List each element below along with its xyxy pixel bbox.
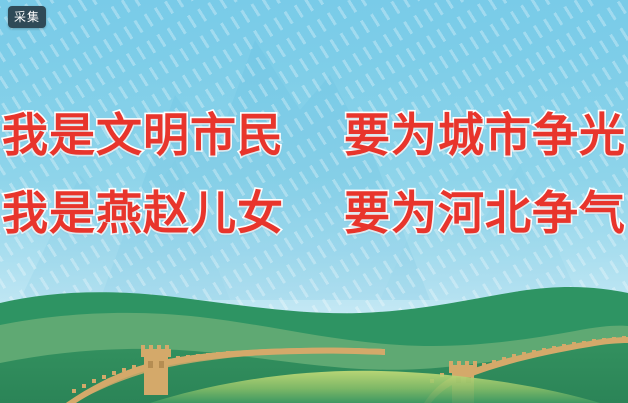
slogan-line-2: 我是燕赵儿女 要为河北争气 bbox=[0, 174, 628, 252]
slogan-line-2-left: 我是燕赵儿女 bbox=[2, 174, 284, 252]
capture-button[interactable]: 采集 bbox=[8, 6, 46, 28]
poster-image: 我是文明市民 要为城市争光 我是燕赵儿女 要为河北争气 采集 bbox=[0, 0, 628, 403]
slogan-text-block: 我是文明市民 要为城市争光 我是燕赵儿女 要为河北争气 bbox=[0, 96, 628, 252]
landscape-hills-and-wall bbox=[0, 263, 628, 403]
slogan-line-2-right: 要为河北争气 bbox=[344, 174, 626, 252]
watchtower-left bbox=[141, 345, 171, 395]
slogan-line-1-right: 要为城市争光 bbox=[344, 96, 626, 174]
slogan-line-1-left: 我是文明市民 bbox=[2, 96, 284, 174]
slogan-line-1: 我是文明市民 要为城市争光 bbox=[0, 96, 628, 174]
